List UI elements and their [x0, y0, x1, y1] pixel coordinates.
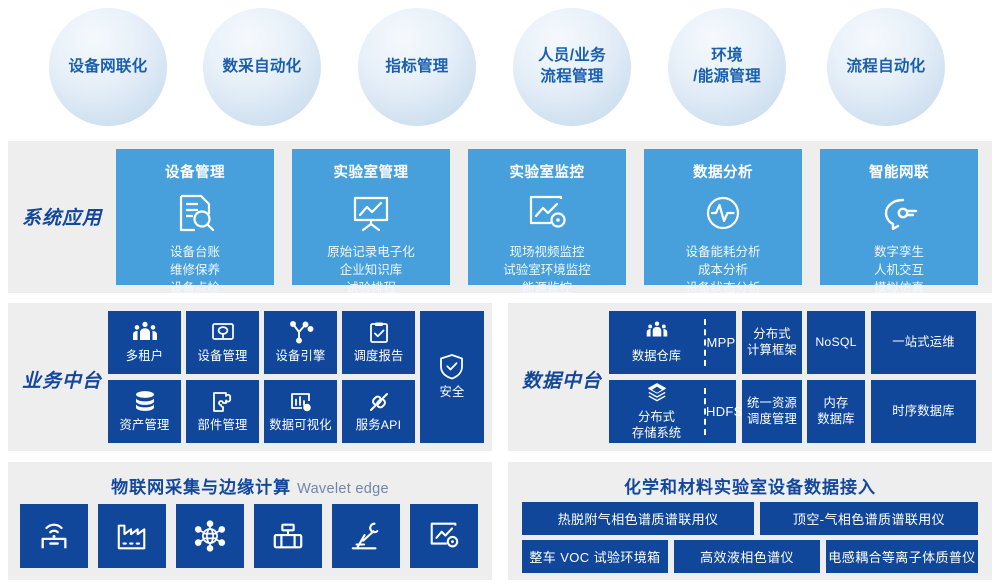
capability-label-line1: 环境 [711, 47, 743, 64]
presentation-chart-icon [349, 191, 393, 235]
system-card-data-analysis[interactable]: 数据分析 设备能耗分析 成本分析 设备状态分析 [644, 149, 802, 285]
card-title: 实验室监控 [510, 161, 585, 182]
data-tile-warehouse-mpp[interactable]: 数据仓库 MPP [609, 311, 736, 374]
network-globe-icon [193, 519, 227, 553]
tile-label: 设备管理 [198, 349, 248, 365]
iot-icon-box-monitor-chart[interactable] [410, 504, 478, 568]
card-line: 模拟仿真 [874, 279, 924, 297]
tile-label-line1: 分布式 [753, 327, 791, 341]
lab-section-title: 化学和材料实验室设备数据接入 [508, 473, 992, 498]
lab-chip-vehicle-voc-chamber[interactable]: 整车 VOC 试验环境箱 [522, 540, 668, 573]
card-line: 设备点检 [170, 279, 220, 297]
lab-chip-headspace-gcms[interactable]: 顶空-气相色谱质谱联用仪 [760, 502, 978, 535]
business-tile-multi-tenant[interactable]: 多租户 [108, 311, 181, 374]
iot-subtitle-text: Wavelet edge [297, 481, 389, 497]
card-lines: 现场视频监控 试验室环境监控 能源监控 [503, 243, 591, 297]
tile-label: 数据仓库 [632, 349, 681, 365]
capability-ellipse-3[interactable]: 指标管理 [358, 8, 476, 126]
data-warehouse-cell: 数据仓库 [609, 311, 704, 374]
card-lines: 数字孪生 人机交互 模拟仿真 [874, 243, 924, 297]
asset-database-icon [132, 390, 158, 414]
card-line: 设备台账 [170, 243, 220, 261]
card-lines: 原始记录电子化 企业知识库 试验排程 [327, 243, 415, 297]
capability-label-line2: /能源管理 [693, 68, 761, 85]
wifi-gateway-icon [37, 519, 71, 553]
capability-ellipse-1[interactable]: 设备网联化 [49, 8, 167, 126]
business-tile-device-engine[interactable]: 设备引擎 [264, 311, 337, 374]
capability-ellipse-2[interactable]: 数采自动化 [203, 8, 321, 126]
monitor-chart-icon [427, 519, 461, 553]
card-line: 人机交互 [874, 261, 924, 279]
tile-label: 部件管理 [198, 418, 248, 434]
card-line: 设备状态分析 [685, 279, 760, 297]
tile-label-line2: 存储系统 [632, 426, 681, 440]
capability-label: 数采自动化 [222, 57, 301, 78]
card-title: 数据分析 [693, 161, 753, 182]
tile-label: 安全 [440, 385, 465, 401]
ai-head-icon [877, 191, 921, 235]
lab-chip-thermal-desorption-gcms[interactable]: 热脱附气相色谱质谱联用仪 [522, 502, 754, 535]
tile-label-line1: 统一资源 [747, 396, 797, 410]
distributed-storage-icon [646, 382, 668, 407]
capability-ellipse-row: 设备网联化 数采自动化 指标管理 人员/业务 流程管理 环境 /能源管理 流程自… [0, 0, 1000, 136]
business-tile-component-management[interactable]: 部件管理 [186, 380, 259, 443]
tile-label: NoSQL [815, 335, 856, 351]
card-line: 企业知识库 [327, 261, 415, 279]
chip-label: 整车 VOC 试验环境箱 [529, 547, 660, 566]
mpp-label: MPP [706, 311, 736, 374]
data-platform-row-label: 数据中台 [522, 366, 602, 393]
card-line: 试验排程 [327, 279, 415, 297]
data-tile-one-stop-ops[interactable]: 一站式运维 [871, 311, 976, 374]
document-search-icon [173, 191, 217, 235]
api-plug-icon [367, 390, 391, 414]
system-card-lab-management[interactable]: 实验室管理 原始记录电子化 企业知识库 试验排程 [292, 149, 450, 285]
system-application-row-label: 系统应用 [22, 203, 102, 230]
data-visual-icon [289, 390, 313, 414]
iot-icon-box-factory[interactable] [98, 504, 166, 568]
chip-label: 电感耦合等离子体质普仪 [828, 547, 975, 566]
tile-label: 分布式 存储系统 [632, 410, 681, 441]
card-line: 设备能耗分析 [685, 243, 760, 261]
chip-label: 高效液相色谱仪 [700, 547, 794, 566]
card-line: 能源监控 [503, 279, 591, 297]
robot-arm-icon [349, 519, 383, 553]
iot-section-title: 物联网采集与边缘计算Wavelet edge [8, 473, 492, 498]
multi-tenant-icon [132, 321, 158, 345]
data-tile-unified-resource-scheduling[interactable]: 统一资源 调度管理 [742, 380, 802, 443]
factory-icon [115, 519, 149, 553]
card-title: 设备管理 [165, 161, 225, 182]
tile-label-line1: 分布式 [638, 410, 675, 424]
clipboard-check-icon [367, 321, 391, 345]
tile-label-line1: 内存 [824, 396, 849, 410]
iot-title-text: 物联网采集与边缘计算 [111, 478, 291, 497]
tile-label-line2: 数据库 [817, 412, 855, 426]
architecture-diagram: 设备网联化 数采自动化 指标管理 人员/业务 流程管理 环境 /能源管理 流程自… [0, 0, 1000, 588]
iot-icon-box-wifi-gateway[interactable] [20, 504, 88, 568]
tile-label: 一站式运维 [892, 335, 955, 351]
capability-label: 流程自动化 [846, 57, 925, 78]
tile-label: 数据可视化 [269, 418, 332, 434]
card-line: 原始记录电子化 [327, 243, 415, 261]
data-tile-timeseries-database[interactable]: 时序数据库 [871, 380, 976, 443]
business-tile-security[interactable]: 安全 [420, 311, 484, 443]
card-title: 智能网联 [869, 161, 929, 182]
lab-chip-hplc[interactable]: 高效液相色谱仪 [674, 540, 820, 573]
business-tile-service-api[interactable]: 服务API [342, 380, 415, 443]
hdfs-label: HDFS [706, 380, 743, 443]
card-title: 实验室管理 [334, 161, 409, 182]
capability-ellipse-5[interactable]: 环境 /能源管理 [668, 8, 786, 126]
card-lines: 设备台账 维修保养 设备点检 [170, 243, 220, 297]
distributed-storage-cell: 分布式 存储系统 [609, 380, 704, 443]
card-line: 维修保养 [170, 261, 220, 279]
tile-label: 时序数据库 [892, 404, 955, 420]
chip-label: 顶空-气相色谱质谱联用仪 [793, 509, 945, 528]
capability-label: 指标管理 [385, 57, 448, 78]
tile-label: 服务API [356, 418, 401, 434]
capability-label-line2: 流程管理 [540, 68, 603, 85]
shield-check-icon [439, 353, 465, 381]
card-line: 成本分析 [685, 261, 760, 279]
business-tile-schedule-report[interactable]: 调度报告 [342, 311, 415, 374]
device-engine-icon [288, 321, 314, 345]
capability-label-line1: 人员/业务 [538, 47, 606, 64]
business-platform-row-label: 业务中台 [22, 366, 102, 393]
business-tile-asset-management[interactable]: 资产管理 [108, 380, 181, 443]
tile-label: 资产管理 [120, 418, 170, 434]
tile-label-line2: 计算框架 [747, 343, 797, 357]
device-manage-icon [210, 321, 236, 345]
chip-label: 热脱附气相色谱质谱联用仪 [558, 509, 719, 528]
iot-icon-box-sensor-device[interactable] [254, 504, 322, 568]
lab-chip-icp-ms[interactable]: 电感耦合等离子体质普仪 [826, 540, 978, 573]
capability-ellipse-6[interactable]: 流程自动化 [827, 8, 945, 126]
business-tile-data-visualization[interactable]: 数据可视化 [264, 380, 337, 443]
system-card-device-management[interactable]: 设备管理 设备台账 维修保养 设备点检 [116, 149, 274, 285]
card-lines: 设备能耗分析 成本分析 设备状态分析 [685, 243, 760, 297]
system-card-intelligent-network[interactable]: 智能网联 数字孪生 人机交互 模拟仿真 [820, 149, 978, 285]
data-warehouse-icon [645, 321, 669, 346]
data-tile-nosql[interactable]: NoSQL [807, 311, 865, 374]
tile-label: 多租户 [126, 349, 164, 365]
card-line: 现场视频监控 [503, 243, 591, 261]
tile-label: 分布式 计算框架 [747, 327, 797, 358]
card-line: 试验室环境监控 [503, 261, 591, 279]
system-card-lab-monitoring[interactable]: 实验室监控 现场视频监控 试验室环境监控 能源监控 [468, 149, 626, 285]
business-tile-device-management[interactable]: 设备管理 [186, 311, 259, 374]
monitor-chart-icon [525, 191, 569, 235]
data-tile-in-memory-database[interactable]: 内存 数据库 [807, 380, 865, 443]
tile-label: 内存 数据库 [817, 396, 855, 427]
capability-label: 设备网联化 [68, 57, 147, 78]
sensor-device-icon [271, 519, 305, 553]
pulse-circle-icon [701, 191, 745, 235]
tile-label: 设备引擎 [276, 349, 326, 365]
tile-label: 调度报告 [354, 349, 404, 365]
card-line: 数字孪生 [874, 243, 924, 261]
puzzle-piece-icon [211, 390, 235, 414]
iot-icon-box-robot-arm[interactable] [332, 504, 400, 568]
capability-ellipse-4[interactable]: 人员/业务 流程管理 [513, 8, 631, 126]
data-tile-storage-hdfs[interactable]: 分布式 存储系统 HDFS [609, 380, 736, 443]
iot-icon-box-network-globe[interactable] [176, 504, 244, 568]
tile-label: 统一资源 调度管理 [747, 396, 797, 427]
tile-label-line2: 调度管理 [747, 412, 797, 426]
data-tile-distributed-compute[interactable]: 分布式 计算框架 [742, 311, 802, 374]
